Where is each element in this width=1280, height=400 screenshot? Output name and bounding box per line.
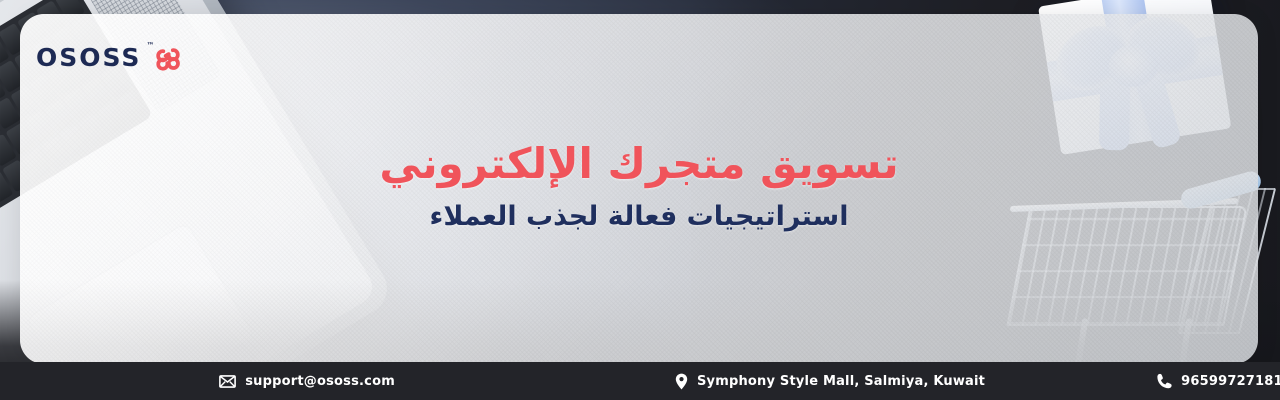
contact-item-address[interactable]: Symphony Style Mall, Salmiya, Kuwait	[675, 373, 985, 390]
envelope-icon	[219, 375, 236, 388]
brand-logo[interactable]: OSOSS ™	[36, 40, 185, 74]
map-pin-icon	[675, 373, 688, 390]
contact-bar: support@ososs.com Symphony Style Mall, S…	[0, 362, 1280, 400]
ososs-interlocking-rings-logo-icon	[151, 40, 185, 74]
page-title: تسويق متجرك الإلكتروني	[20, 140, 1258, 187]
banner-canvas: OSOSS ™ تسويق متجرك الإلكتروني استراتيجي…	[0, 0, 1280, 400]
brand-name-text: OSOSS	[36, 43, 141, 72]
contact-email-label: support@ososs.com	[245, 374, 395, 389]
contact-phone-label: 96599727181	[1181, 374, 1280, 389]
brand-wordmark: OSOSS ™	[36, 45, 141, 70]
hero-text-block: تسويق متجرك الإلكتروني استراتيجيات فعالة…	[20, 140, 1258, 233]
trademark-symbol: ™	[146, 42, 154, 50]
contact-address-label: Symphony Style Mall, Salmiya, Kuwait	[697, 374, 985, 389]
contact-item-phone[interactable]: 96599727181	[1157, 373, 1280, 389]
page-subtitle: استراتيجيات فعالة لجذب العملاء	[20, 201, 1258, 233]
content-panel: OSOSS ™ تسويق متجرك الإلكتروني استراتيجي…	[20, 14, 1258, 364]
phone-icon	[1157, 373, 1172, 389]
contact-item-email[interactable]: support@ososs.com	[219, 374, 395, 389]
